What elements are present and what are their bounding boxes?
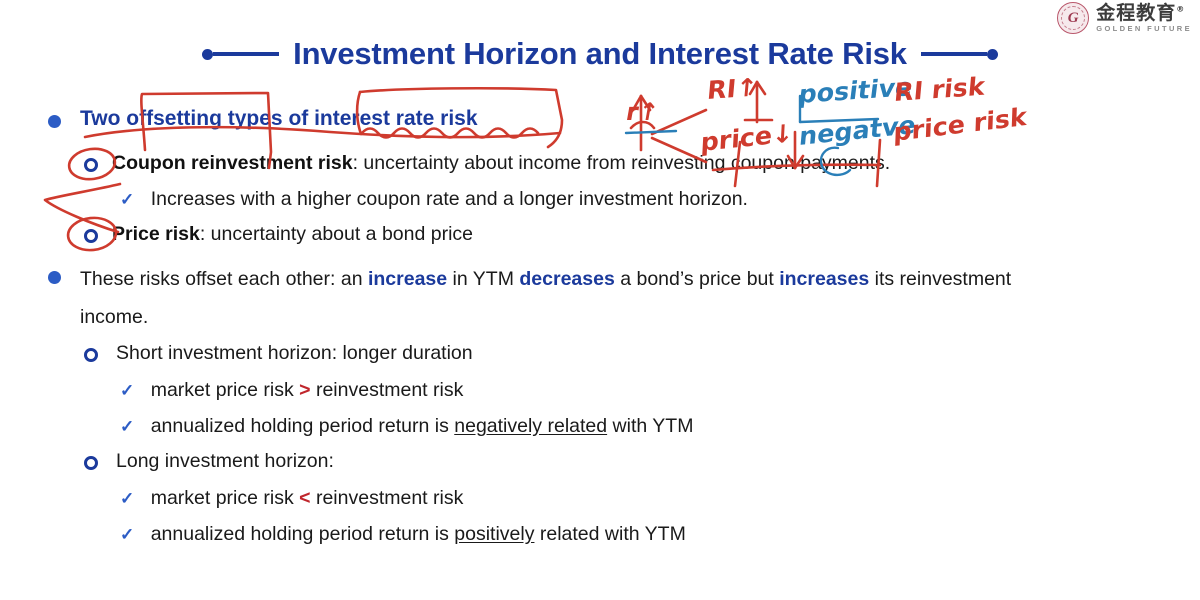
word-increase: increase [368, 268, 447, 290]
check-icon: ✓ [120, 489, 134, 508]
long-sub2-post: related with YTM [534, 523, 685, 545]
short-sub2-underlined: negatively related [454, 415, 607, 437]
check-icon: ✓ [120, 190, 134, 209]
long-sub2-underlined: positively [454, 523, 534, 545]
coupon-risk-desc: : uncertainty about income from reinvest… [353, 152, 891, 174]
brand-logo: G 金程教育® GOLDEN FUTURE [1057, 2, 1192, 34]
price-risk-term: Price risk [112, 223, 200, 245]
short-sub1-operator: > [299, 379, 310, 401]
bullet-marker-coupon-reinvestment [84, 158, 98, 172]
short-sub2-pre: annualized holding period return is [151, 415, 455, 437]
annotation-price-risk: price risk [893, 102, 1027, 147]
bullet-marker-level1-b [48, 271, 61, 284]
bullet-marker-short-horizon [84, 348, 98, 362]
offset-text-2: in YTM [447, 268, 519, 290]
item-long-market-price-risk: ✓ market price risk < reinvestment risk [120, 487, 463, 510]
item-long-annualized-return: ✓ annualized holding period return is po… [120, 523, 686, 546]
title-left-decoration-icon [202, 49, 279, 60]
short-sub1-pre: market price risk [151, 379, 299, 401]
offset-text-1: These risks offset each other: an [80, 268, 368, 290]
offset-text-5: income. [80, 306, 148, 328]
item-coupon-reinvestment-risk: Coupon reinvestment risk: uncertainty ab… [112, 152, 890, 175]
long-sub1-pre: market price risk [151, 487, 299, 509]
annotation-ri-up: RI↑ [706, 73, 758, 105]
heading-short-horizon: Short investment horizon: longer duratio… [116, 342, 473, 365]
bullet-marker-long-horizon [84, 456, 98, 470]
title-right-decoration-icon [921, 49, 998, 60]
logo-seal-icon: G [1057, 2, 1089, 34]
bullet-marker-price-risk [84, 229, 98, 243]
bullet-marker-level1-a [48, 115, 61, 128]
long-sub1-post: reinvestment risk [311, 487, 464, 509]
annotation-r-up: r↑ [624, 98, 661, 126]
check-icon: ✓ [120, 381, 134, 400]
price-risk-desc: : uncertainty about a bond price [200, 223, 473, 245]
word-increases: increases [779, 268, 869, 290]
heading-long-horizon: Long investment horizon: [116, 450, 334, 473]
long-sub2-pre: annualized holding period return is [151, 523, 455, 545]
logo-chinese-name: 金程教育® [1096, 4, 1192, 23]
slide-title-row: Investment Horizon and Interest Rate Ris… [0, 36, 1200, 72]
page-title: Investment Horizon and Interest Rate Ris… [293, 36, 907, 72]
item-short-market-price-risk: ✓ market price risk > reinvestment risk [120, 379, 463, 402]
word-decreases: decreases [519, 268, 614, 290]
check-icon: ✓ [120, 417, 134, 436]
short-sub1-post: reinvestment risk [311, 379, 464, 401]
slide-canvas: G 金程教育® GOLDEN FUTURE Investment Horizon… [0, 0, 1200, 600]
offset-text-3: a bond’s price but [615, 268, 779, 290]
long-sub1-operator: < [299, 487, 310, 509]
offset-text-4: its reinvestment [869, 268, 1011, 290]
item-increases-with-coupon-rate: ✓ Increases with a higher coupon rate an… [120, 188, 748, 211]
item-price-risk: Price risk: uncertainty about a bond pri… [112, 223, 473, 246]
coupon-risk-term: Coupon reinvestment risk [112, 152, 353, 174]
increases-text: Increases with a higher coupon rate and … [151, 188, 748, 210]
short-sub2-post: with YTM [607, 415, 693, 437]
annotation-ri-risk: RI risk [893, 72, 986, 107]
logo-glyph: G [1058, 7, 1088, 29]
paragraph-risks-offset: These risks offset each other: an increa… [80, 260, 1150, 336]
item-short-annualized-return: ✓ annualized holding period return is ne… [120, 415, 693, 438]
check-icon: ✓ [120, 525, 134, 544]
bullet-two-offsetting-types: Two offsetting types of interest rate ri… [80, 107, 478, 131]
logo-english-name: GOLDEN FUTURE [1096, 25, 1192, 33]
